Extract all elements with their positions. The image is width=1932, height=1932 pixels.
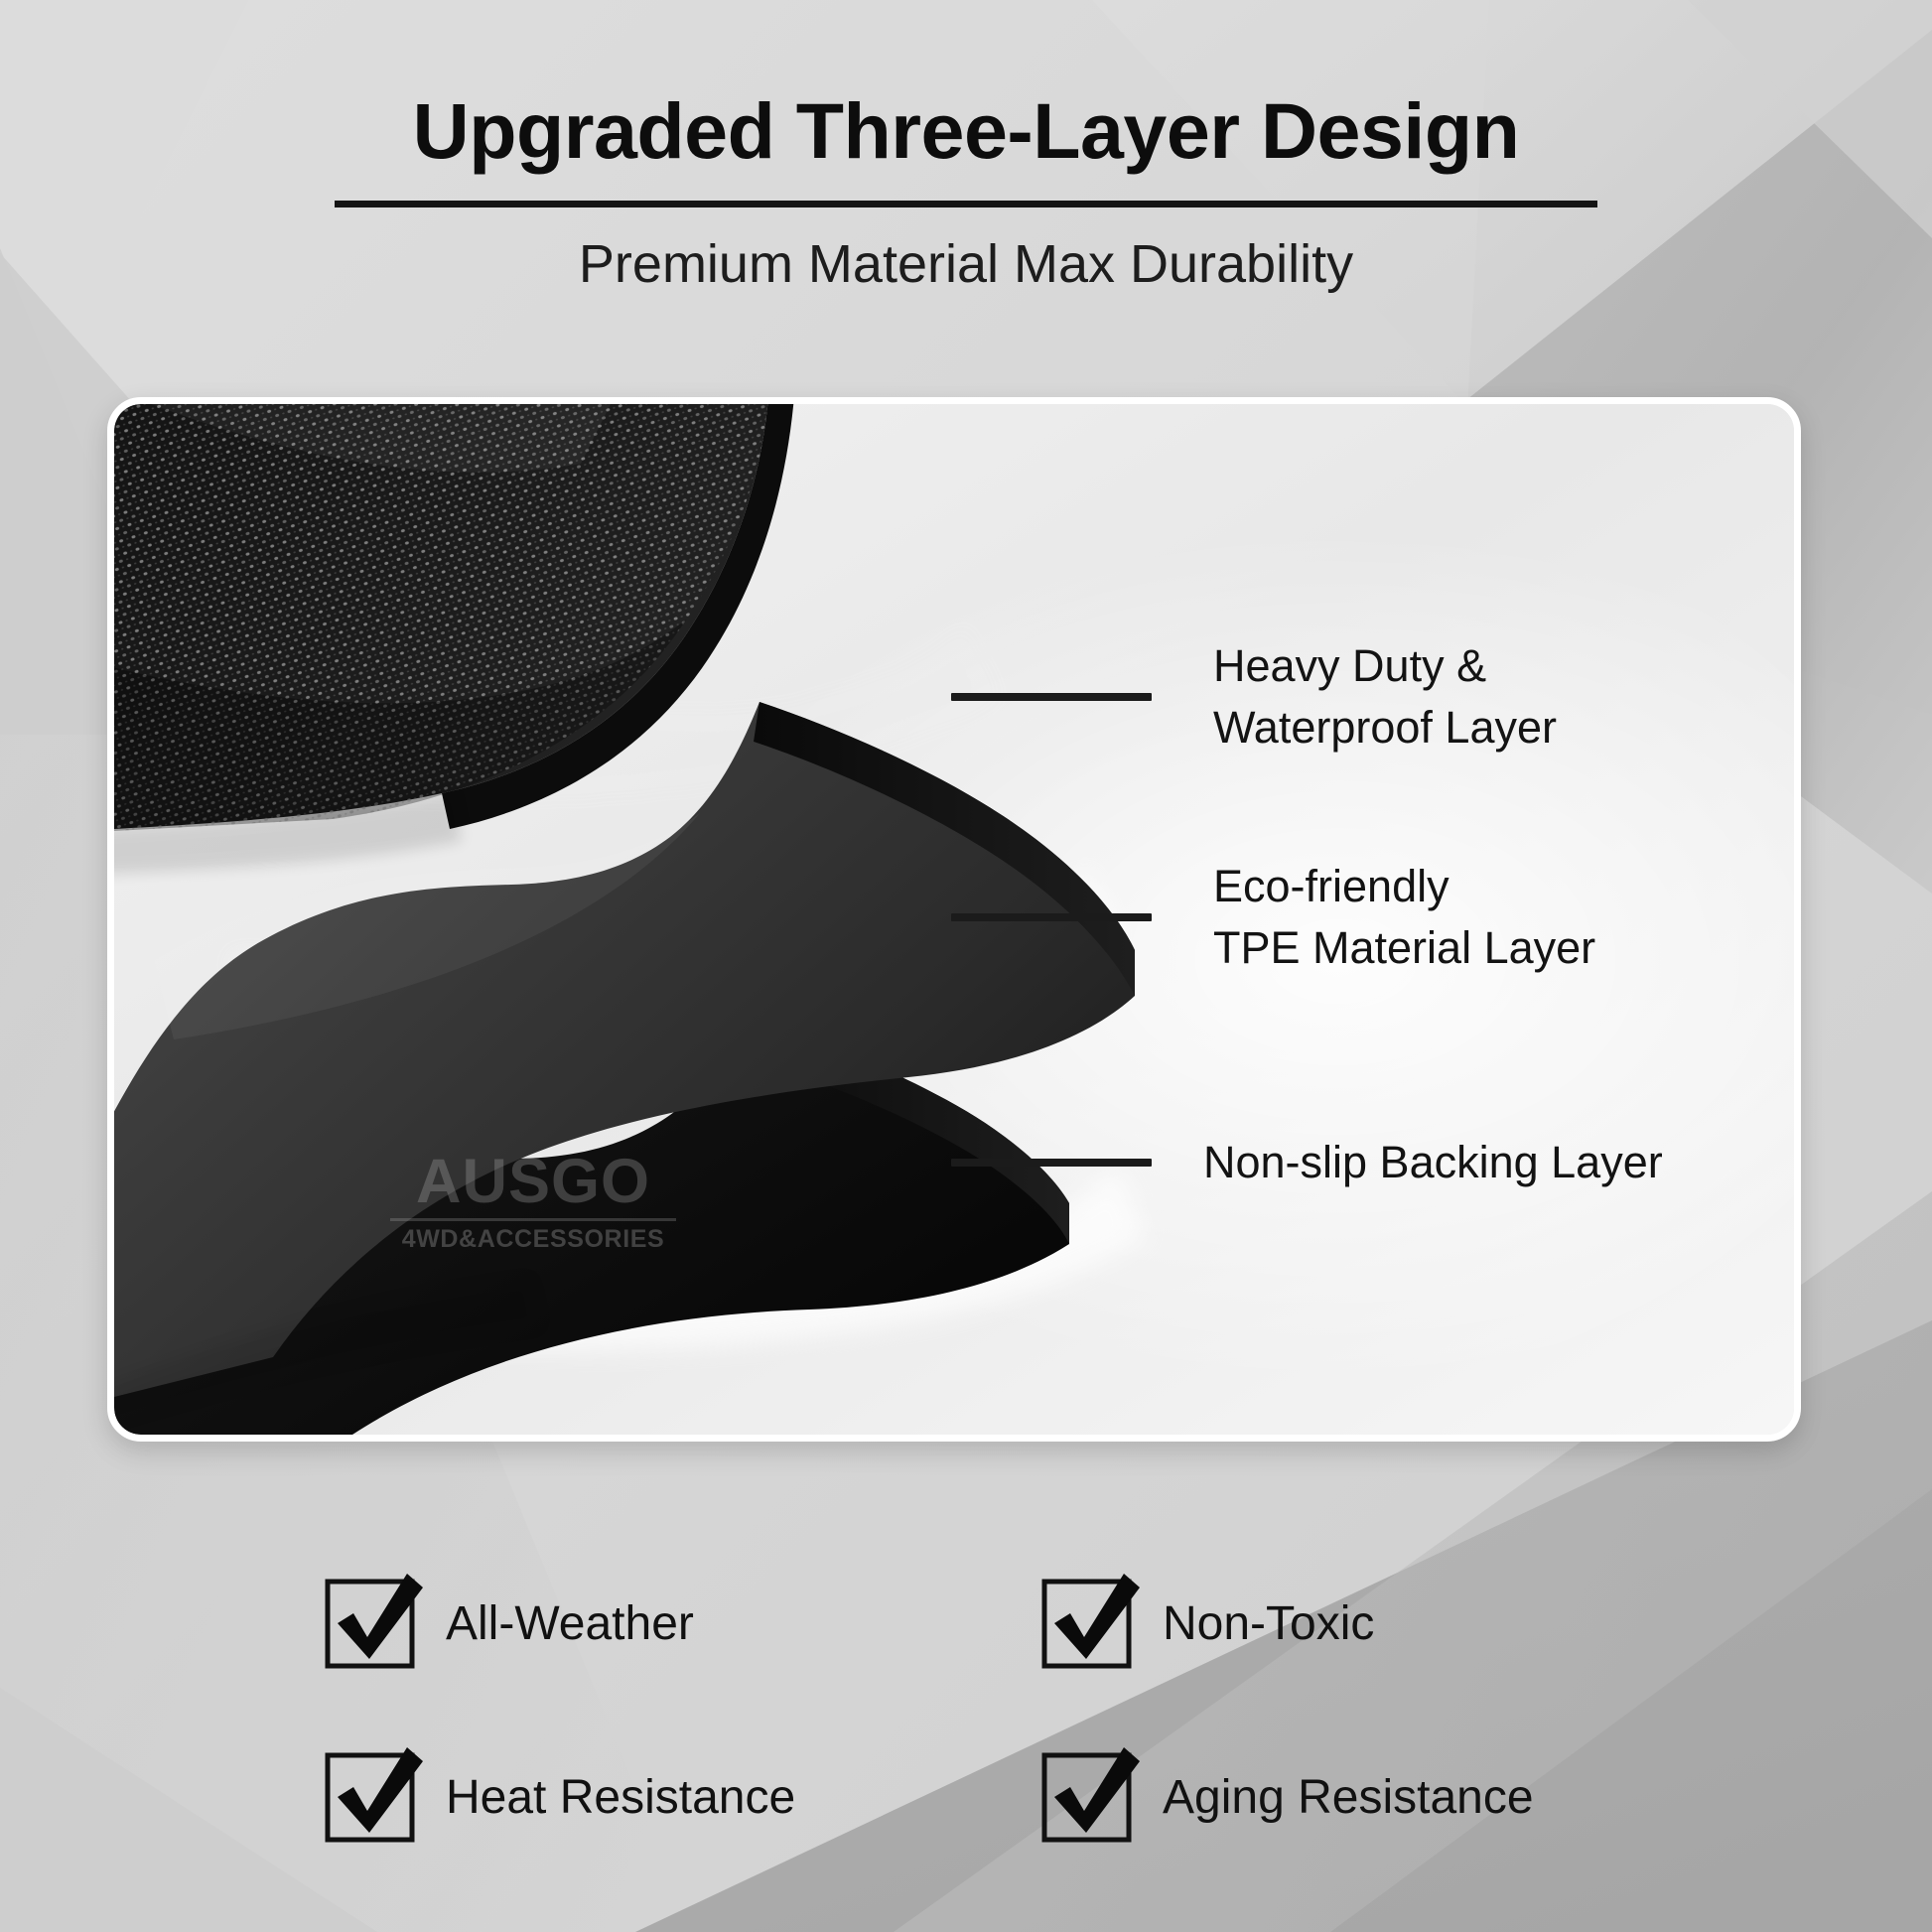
checkmark-icon [320,1739,429,1844]
callout-label: Non-slip Backing Layer [1203,1132,1663,1193]
callout-eco-friendly-tpe-layer: Eco-friendly TPE Material Layer [951,856,1595,979]
feature-heat-resistance: Heat Resistance [328,1711,1044,1884]
checkmark-icon [1036,1566,1146,1670]
checkmark-icon [1036,1739,1146,1844]
feature-all-weather: All-Weather [328,1537,1044,1711]
header: Upgraded Three-Layer Design Premium Mate… [0,0,1932,295]
checkbox-checked-icon [328,1755,412,1840]
page-subtitle: Premium Material Max Durability [0,207,1932,294]
feature-label: Aging Resistance [1163,1774,1534,1822]
checkbox-checked-icon [1044,1755,1129,1840]
callout-heavy-duty-waterproof-layer: Heavy Duty & Waterproof Layer [951,635,1557,759]
callout-label: Heavy Duty & Waterproof Layer [1213,635,1557,759]
feature-aging-resistance: Aging Resistance [1044,1711,1648,1884]
callout-leader-line [951,693,1152,701]
callout-leader-line [951,1159,1152,1167]
feature-label: Heat Resistance [446,1774,795,1822]
title-underline [335,201,1597,207]
callout-non-slip-backing-layer: Non-slip Backing Layer [951,1132,1663,1193]
checkmark-icon [320,1566,429,1670]
page-title: Upgraded Three-Layer Design [0,0,1932,175]
callout-leader-line [951,913,1152,921]
feature-label: All-Weather [446,1600,694,1648]
callout-label: Eco-friendly TPE Material Layer [1213,856,1595,979]
feature-checklist: All-Weather Non-Toxic Heat Resistance [328,1537,1648,1884]
product-infographic: Upgraded Three-Layer Design Premium Mate… [0,0,1932,1932]
checkbox-checked-icon [328,1582,412,1666]
feature-non-toxic: Non-Toxic [1044,1537,1648,1711]
checkbox-checked-icon [1044,1582,1129,1666]
feature-label: Non-Toxic [1163,1600,1374,1648]
